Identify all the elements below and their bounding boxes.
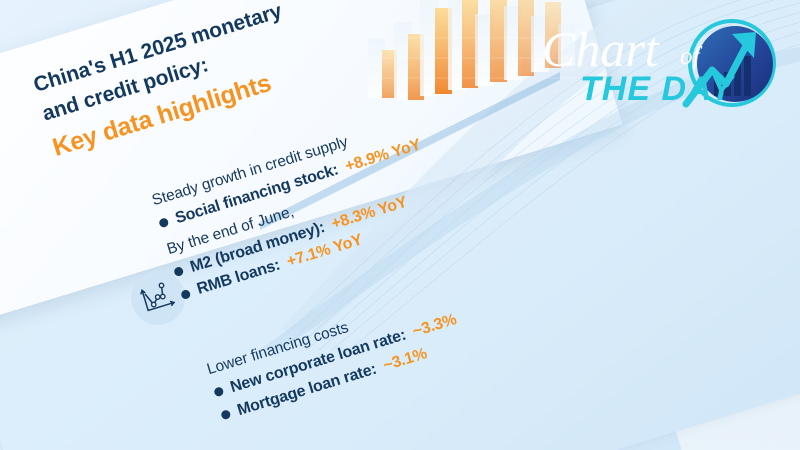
logo-word-chart: Chart	[542, 21, 660, 77]
logo-word-of: of	[680, 43, 703, 70]
brand-logo: Chart of THE DAY	[536, 8, 788, 116]
logo-word-theday: THE DAY	[580, 70, 736, 108]
poster-canvas: China's H1 2025 monetary and credit poli…	[0, 0, 800, 450]
bullet-dot-icon	[158, 217, 169, 228]
bullet-dot-icon	[173, 266, 184, 277]
line-chart-icon	[137, 277, 179, 319]
bullet-dot-icon	[213, 386, 224, 397]
bullet-dot-icon	[220, 409, 231, 420]
bullet-dot-icon	[180, 289, 191, 300]
